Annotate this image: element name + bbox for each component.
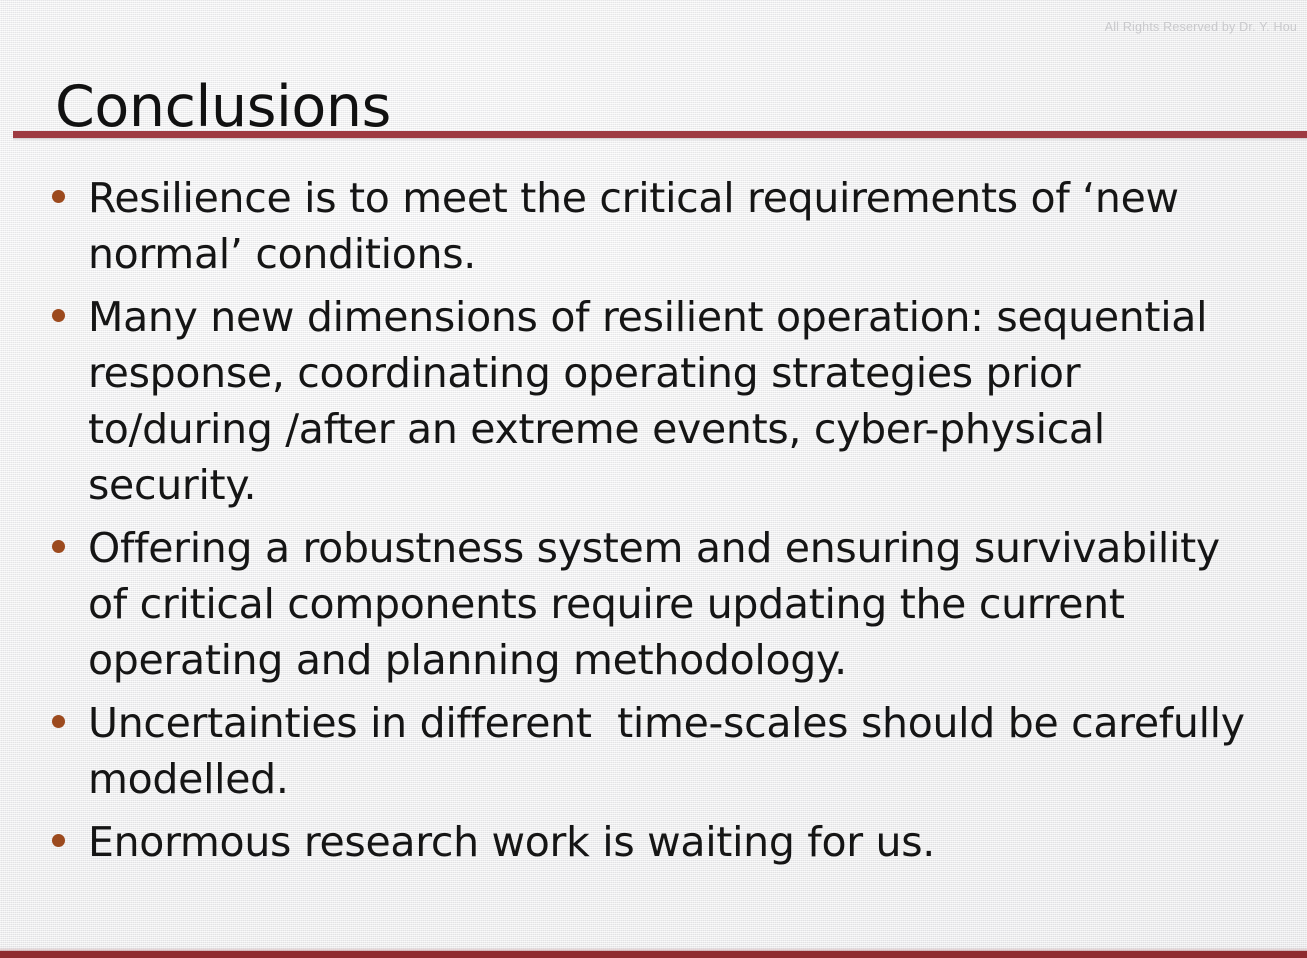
list-item: Uncertainties in different time-scales s…	[52, 695, 1267, 807]
bullet-dot-icon	[52, 190, 65, 203]
list-item: Resilience is to meet the critical requi…	[52, 170, 1267, 282]
list-item-label: Offering a robustness system and ensurin…	[88, 520, 1238, 688]
list-item: Many new dimensions of resilient operati…	[52, 289, 1267, 513]
bullet-list: Resilience is to meet the critical requi…	[52, 170, 1267, 877]
list-item-label: Enormous research work is waiting for us…	[88, 814, 1267, 870]
list-item-label: Uncertainties in different time-scales s…	[88, 695, 1267, 807]
bullet-dot-icon	[52, 715, 65, 728]
slide-canvas: All Rights Reserved by Dr. Y. Hou Conclu…	[0, 0, 1307, 958]
bottom-accent-bar	[0, 951, 1307, 958]
bullet-dot-icon	[52, 309, 65, 322]
bullet-dot-icon	[52, 834, 65, 847]
list-item: Offering a robustness system and ensurin…	[52, 520, 1267, 688]
list-item-label: Many new dimensions of resilient operati…	[88, 289, 1248, 513]
title-divider-shadow	[13, 138, 1307, 142]
bullet-dot-icon	[52, 540, 65, 553]
copyright-notice: All Rights Reserved by Dr. Y. Hou	[1105, 20, 1297, 34]
list-item-label: Resilience is to meet the critical requi…	[88, 170, 1218, 282]
list-item: Enormous research work is waiting for us…	[52, 814, 1267, 870]
title-divider-rule	[13, 131, 1307, 138]
slide-title: Conclusions	[55, 79, 391, 136]
